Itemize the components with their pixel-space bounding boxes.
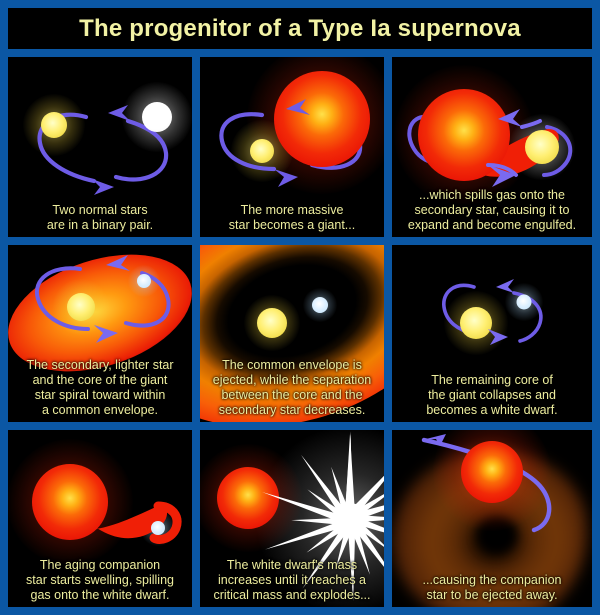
panel-common-envelope: The secondary, lighter star and the core… (8, 245, 192, 422)
panel-5-caption: The common envelope is ejected, while th… (200, 358, 384, 418)
page-title: The progenitor of a Type Ia supernova (79, 15, 521, 43)
panel-3-caption: ...which spills gas onto the secondary s… (392, 188, 592, 233)
panel-mass-transfer: ...which spills gas onto the secondary s… (392, 57, 592, 237)
panel-9-caption: ...causing the companion star to be ejec… (392, 573, 592, 603)
panel-white-dwarf-formed: The remaining core of the giant collapse… (392, 245, 592, 422)
white-dwarf (151, 521, 165, 535)
panel-4-caption: The secondary, lighter star and the core… (8, 358, 192, 418)
panel-7-caption: The aging companion star starts swelling… (8, 558, 192, 603)
panel-accretion: The aging companion star starts swelling… (8, 430, 192, 607)
panel-envelope-ejected: The common envelope is ejected, while th… (200, 245, 384, 422)
white-dwarf (312, 297, 328, 313)
yellow-star (257, 308, 287, 338)
panel-supernova-explosion: The white dwarf's mass increases until i… (200, 430, 384, 607)
secondary-star (525, 130, 559, 164)
title-bar: The progenitor of a Type Ia supernova (8, 8, 592, 49)
panel-companion-ejected: ...causing the companion star to be ejec… (392, 430, 592, 607)
panel-1-caption: Two normal stars are in a binary pair. (8, 203, 192, 233)
aging-red-star (32, 464, 108, 540)
ejected-red-star (461, 441, 523, 503)
panel-8-caption: The white dwarf's mass increases until i… (200, 558, 384, 603)
panel-6-caption: The remaining core of the giant collapse… (392, 373, 592, 418)
panel-binary-pair: Two normal stars are in a binary pair. (8, 57, 192, 237)
panel-red-giant-forms: The more massive star becomes a giant... (200, 57, 384, 237)
panel-2-caption: The more massive star becomes a giant... (200, 203, 384, 233)
infographic-root: The progenitor of a Type Ia supernova Tw… (0, 0, 600, 615)
